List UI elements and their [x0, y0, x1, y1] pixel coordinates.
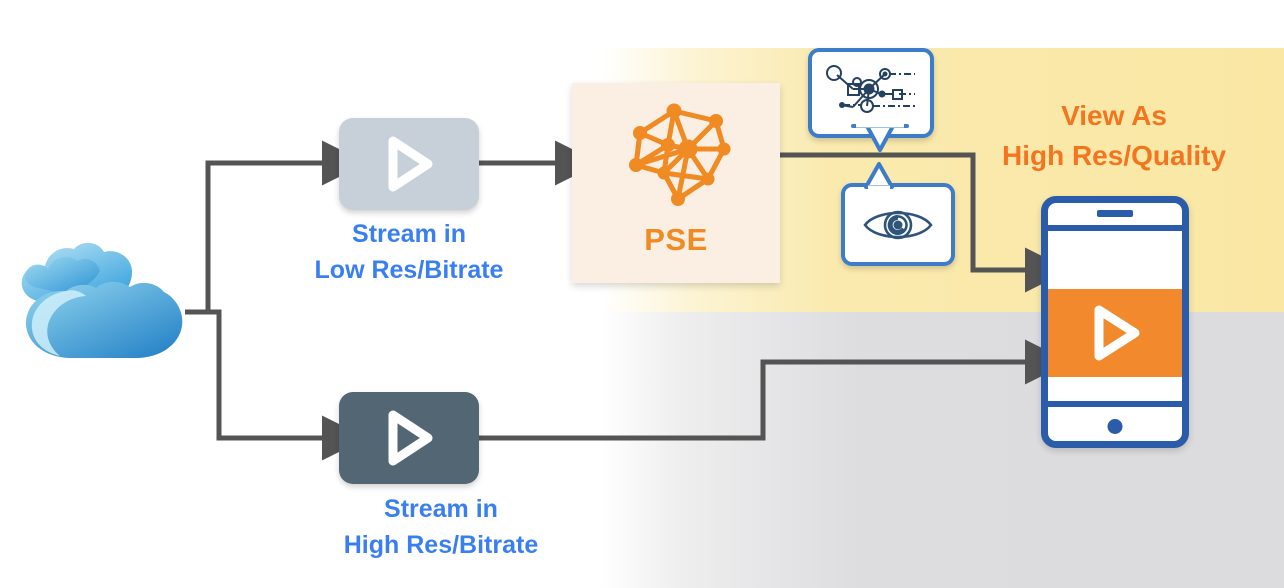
result-line2: High Res/Quality	[1002, 136, 1226, 176]
phone-screen	[1048, 225, 1182, 407]
result-label: View As High Res/Quality	[1002, 96, 1226, 176]
smartphone-icon[interactable]	[1041, 196, 1189, 448]
phone-speaker	[1097, 210, 1133, 217]
play-button-icon	[1087, 303, 1143, 363]
result-line1: View As	[1002, 96, 1226, 136]
phone-video-band	[1048, 289, 1182, 377]
diagram-canvas: Stream in Low Res/Bitrate Stream in High…	[0, 0, 1284, 588]
phone-home-button[interactable]	[1108, 419, 1123, 434]
